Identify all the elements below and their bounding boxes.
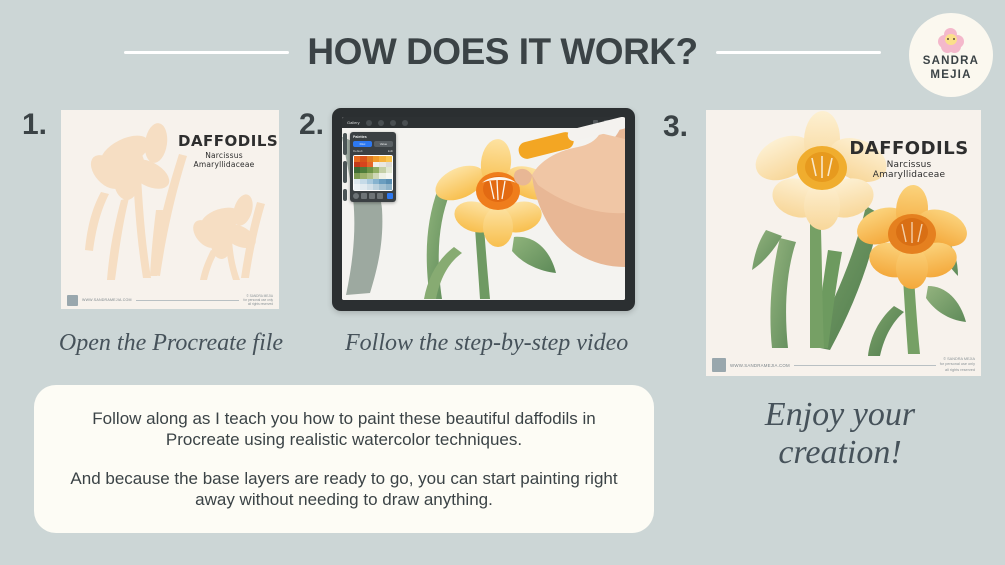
artwork-title-sub-3: Narcissus Amaryllidaceae	[849, 160, 969, 180]
brand-name: SANDRA MEJIA	[923, 54, 979, 83]
artwork-url-3: WWW.SANDRAMEJIA.COM	[730, 363, 790, 368]
artwork-title-3: DAFFODILS Narcissus Amaryllidaceae	[849, 138, 969, 180]
description-paragraph-1: Follow along as I teach you how to paint…	[60, 408, 628, 451]
flower-icon	[938, 28, 964, 52]
artwork-rights-3: © SANDRA MEJIA for personal use only all…	[940, 357, 975, 372]
enjoy-line-1: Enjoy your	[765, 396, 915, 433]
enjoy-line-2: creation!	[778, 434, 901, 471]
watermark-icon-1	[67, 295, 78, 306]
step-1-number: 1.	[22, 108, 47, 142]
page-header: HOW DOES IT WORK?	[0, 24, 1005, 80]
artwork-title-main-3: DAFFODILS	[849, 138, 969, 159]
artwork-url-1: WWW.SANDRAMEJIA.COM	[82, 298, 132, 302]
title-rule-left	[124, 51, 289, 54]
description-paragraph-2: And because the base layers are ready to…	[60, 468, 628, 511]
brand-name-line1: SANDRA	[923, 55, 979, 67]
rights-line3-1: all rights reserved	[248, 302, 273, 306]
step-1-artwork-card[interactable]: DAFFODILS Narcissus Amaryllidaceae WWW.S…	[61, 110, 279, 309]
artwork-footer-3: WWW.SANDRAMEJIA.COM © SANDRA MEJIA for p…	[706, 354, 981, 376]
artwork-title-main-1: DAFFODILS	[178, 132, 270, 150]
artwork-rights-1: © SANDRA MEJIA for personal use only all…	[243, 294, 273, 307]
rights-line1-3: © SANDRA MEJIA	[943, 357, 975, 361]
footer-divider-3	[794, 365, 936, 366]
step-2-number: 2.	[299, 108, 324, 142]
watermark-icon-3	[712, 358, 726, 372]
step-3-number: 3.	[663, 110, 688, 144]
page-title: HOW DOES IT WORK?	[307, 31, 697, 73]
footer-divider-1	[136, 300, 240, 301]
rights-line3-3: all rights reserved	[945, 368, 975, 372]
description-box: Follow along as I teach you how to paint…	[34, 385, 654, 533]
step-2-caption: Follow the step-by-step video	[345, 330, 627, 357]
brand-logo[interactable]: SANDRA MEJIA	[909, 13, 993, 97]
brand-name-line2: MEJIA	[930, 69, 971, 81]
title-rule-right	[716, 51, 881, 54]
ipad-screen[interactable]: Gallery Palettes Disc Value Default	[342, 117, 625, 300]
artwork-footer-1: WWW.SANDRAMEJIA.COM © SANDRA MEJIA for p…	[61, 291, 279, 309]
step-1-caption: Open the Procreate file	[55, 330, 287, 357]
step-2-ipad-device[interactable]: Gallery Palettes Disc Value Default	[332, 108, 635, 311]
rights-line2-3: for personal use only	[940, 362, 975, 366]
enjoy-your-creation-text: Enjoy your creation!	[690, 396, 990, 472]
hand-with-apple-pencil	[342, 117, 625, 300]
artwork-title-1: DAFFODILS Narcissus Amaryllidaceae	[178, 132, 270, 169]
step-3-artwork-card[interactable]: DAFFODILS Narcissus Amaryllidaceae WWW.S…	[706, 110, 981, 376]
artwork-title-sub-1: Narcissus Amaryllidaceae	[178, 151, 270, 169]
